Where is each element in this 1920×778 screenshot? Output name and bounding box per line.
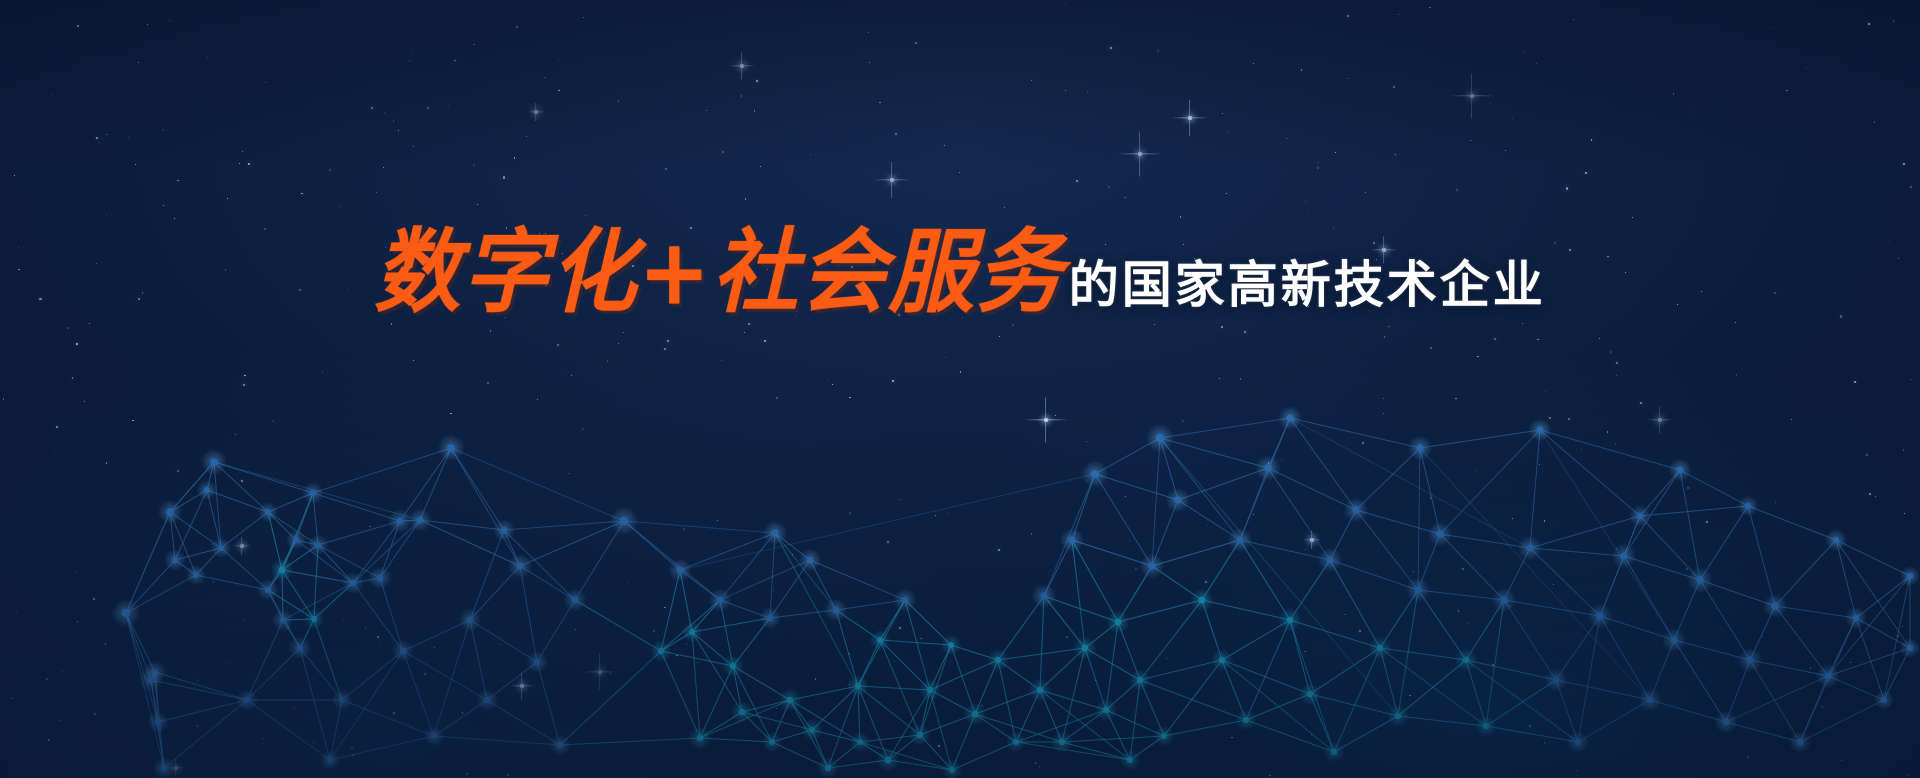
network-node [769,739,775,745]
network-node [1148,562,1155,569]
network-edge [1624,556,1674,640]
network-node [1243,717,1249,723]
network-edge [1202,600,1290,620]
network-node [350,580,356,586]
network-edge [1440,430,1540,534]
network-node [1526,544,1533,551]
network-node [293,537,299,543]
network-node [1091,470,1099,478]
network-node [1264,464,1272,472]
network-edge [1828,576,1910,676]
network-edge [470,620,487,700]
network-edge [1152,438,1160,566]
network-edge [1062,736,1164,742]
network-edge [1072,540,1085,648]
network-node [1575,739,1581,745]
network-node [1082,645,1089,652]
network-node [1553,677,1560,684]
network-edge [1530,548,1624,556]
network-node [1013,739,1019,745]
banner-headline: 数字化+社会服务 [374,225,1064,322]
network-node [339,697,345,703]
network-edge [661,651,733,666]
network-node [1059,739,1065,745]
network-edge [680,474,1095,570]
network-node [1040,592,1047,599]
network-edge [1222,620,1290,660]
network-edge [403,651,487,700]
network-node [204,487,210,493]
network-node [1286,414,1293,421]
network-node [730,663,736,669]
network-edge [1775,606,1856,618]
network-node [279,567,286,574]
network-edge [1540,430,1640,516]
network-edge [998,660,1016,742]
network-node [689,629,695,635]
network-edge [624,521,775,533]
network-node [697,735,704,742]
network-edge [1160,438,1268,468]
network-node [1637,513,1643,519]
network-node [377,575,384,582]
network-edge [1486,680,1556,726]
network-edge [790,700,860,742]
network-edge [1160,438,1240,540]
network-node [1287,617,1294,624]
network-edge [1140,600,1202,680]
network-node [516,562,523,569]
network-edge [1640,506,1748,516]
network-edge [1700,506,1748,580]
network-edge [1775,606,1828,676]
network-node [658,648,664,654]
network-node [1723,719,1730,726]
network-edge [403,651,434,736]
network-node [1037,687,1044,694]
banner-subline: 的国家高新技术企业 [1069,257,1546,313]
network-node [327,757,333,763]
network-edge [1246,720,1334,752]
network-edge [836,610,858,686]
network-edge [1164,720,1246,736]
network-edge [1160,418,1290,438]
network-edge [1240,540,1290,620]
network-edge [1160,438,1398,716]
network-edge [858,686,920,735]
network-edge [318,521,400,545]
network-edge [300,648,330,760]
network-node [447,444,455,452]
network-node [1436,530,1443,537]
network-node [161,765,168,772]
network-edge [1578,616,1600,742]
network-edge [1420,430,1540,448]
hero-banner: 数字化+社会服务 的国家高新技术企业 [0,0,1920,778]
network-node [833,607,840,614]
network-node [122,609,130,617]
network-edge [1095,474,1152,566]
network-node [431,733,437,739]
network-node [1137,677,1143,683]
network-node [1500,596,1507,603]
network-edge [1356,510,1440,534]
network-node [1156,434,1164,442]
network-node [1199,597,1206,604]
network-edge [434,620,470,736]
network-edge [155,672,247,700]
network-node [1395,713,1401,719]
network-node [1416,444,1423,451]
network-node [1414,586,1421,593]
network-edge [1600,616,1650,700]
network-node [193,572,199,578]
network-node [1771,602,1778,609]
network-node [1907,573,1913,579]
network-edge [1504,600,1556,680]
network-node [265,587,271,593]
network-node [210,458,218,466]
network-node [1670,636,1677,643]
network-edge [1380,648,1466,660]
network-edge [420,520,504,530]
network-node [1677,467,1684,474]
network-graphic [0,0,1920,778]
network-node [166,508,173,515]
network-edge [1856,618,1884,700]
network-node [1463,657,1470,664]
network-edge [1800,700,1884,742]
network-node [1161,733,1167,739]
network-edge [1118,600,1202,622]
network-edge [1222,660,1334,752]
network-edge [1486,600,1504,726]
network-node [1174,496,1181,503]
network-edge [1748,506,1836,540]
network-node [1825,673,1832,680]
network-edge [720,533,775,600]
network-node [315,542,321,548]
network-edge [1356,448,1420,510]
network-edge [1836,540,1910,576]
network-node [1068,536,1075,543]
network-node [1483,723,1489,729]
network-edge [247,700,330,760]
network-edge [905,600,930,690]
network-node [767,615,773,621]
network-node [1103,707,1109,713]
network-edge [1884,576,1910,700]
network-node [310,490,316,496]
network-node [995,657,1001,663]
network-node [948,642,954,648]
network-node [787,697,794,704]
network-edge [575,600,661,651]
network-node [1127,757,1133,763]
network-node [917,732,923,738]
network-node [484,697,490,703]
network-node [809,727,815,733]
network-node [400,648,406,654]
network-edge [314,545,318,619]
network-node [155,719,161,725]
network-edge [342,700,434,736]
network-edge [434,736,560,745]
network-edge [692,618,770,632]
network-edge [451,448,520,566]
network-node [244,697,250,703]
network-node [1115,619,1122,626]
network-node [1236,536,1243,543]
network-edge [247,620,283,700]
network-edge [1748,506,1775,606]
network-edge [1040,596,1044,690]
network-edge [1836,540,1856,618]
network-node [297,645,304,652]
network-node [1745,503,1751,509]
network-edge [330,736,434,760]
network-edge [1420,448,1440,534]
network-edge [451,448,624,521]
network-node [172,557,178,563]
network-edge [1140,680,1246,720]
network-node [1853,615,1859,621]
network-node [1331,749,1337,755]
network-edge [1530,430,1540,548]
network-node [534,659,540,665]
network-edge [1140,660,1222,680]
network-edge [1130,680,1140,760]
network-edge [1700,580,1750,660]
network-node [1307,691,1313,697]
network-edge [1556,680,1650,700]
network-node [855,683,861,689]
network-edge [1330,560,1418,590]
network-node [902,597,909,604]
network-node [147,676,154,683]
network-edge [1290,418,1420,448]
network-edge [880,640,951,645]
network-edge [1578,700,1650,742]
network-edge [1152,540,1240,566]
network-edge [1310,694,1398,716]
network-node [1907,645,1913,651]
network-node [1596,612,1603,619]
network-edge [1440,534,1504,600]
network-node [397,518,404,525]
network-edge [1268,468,1356,510]
network-edge [126,512,170,613]
network-edge [451,448,504,530]
network-node [739,709,745,715]
network-node [1647,697,1654,704]
network-edge [1398,716,1486,726]
network-node [885,757,892,764]
network-node [1797,739,1803,745]
network-node [572,597,579,604]
network-node [949,767,955,773]
network-edge [520,566,537,662]
network-node [807,557,814,564]
network-edge [1530,516,1640,548]
network-edge [196,575,268,590]
network-node [280,617,286,623]
network-node [857,739,863,745]
network-node [620,517,628,525]
network-edge [1486,726,1578,742]
network-edge [1240,540,1330,560]
network-node [1219,657,1225,663]
network-node [771,529,778,536]
network-node [927,687,933,693]
network-edge [1775,540,1836,606]
network-node [218,545,224,551]
network-node [557,742,563,748]
network-node [1352,506,1359,513]
network-node [417,517,424,524]
network-edge [1418,448,1420,590]
network-edge [1750,660,1800,742]
network-edge [470,530,504,620]
network-edge [151,680,247,700]
network-edge [1418,590,1466,660]
network-node [677,567,684,574]
network-node [972,711,979,718]
network-edge [1178,468,1268,500]
network-edge [313,493,400,521]
network-edge [661,570,680,651]
network-node [501,527,507,533]
network-edge [314,619,342,700]
network-node [1326,556,1333,563]
network-edge [1290,418,1356,510]
network-node [1833,537,1839,543]
network-edge [1334,716,1398,752]
network-node [1881,697,1887,703]
network-edge [1164,660,1222,736]
network-edge [1540,430,1680,470]
network-edge [810,560,905,600]
network-edge [560,651,661,745]
network-edge [353,583,403,651]
network-node [1746,656,1753,663]
network-node [311,616,317,622]
network-edge [342,651,403,700]
network-node [1620,552,1627,559]
network-node [467,617,474,624]
network-node [1377,645,1384,652]
network-edge [1222,660,1310,694]
network-node [1696,576,1704,584]
network-node [717,597,724,604]
network-node [265,509,271,515]
network-node [877,637,883,643]
network-edge [1268,468,1330,560]
network-edge [470,620,537,662]
network-edge [313,448,451,493]
network-edge [1356,510,1418,590]
network-edge [1680,470,1700,580]
network-edge [1836,540,1910,648]
network-edge [1418,590,1504,600]
network-edge [560,738,700,745]
network-node [825,765,831,771]
network-node [1537,427,1544,434]
